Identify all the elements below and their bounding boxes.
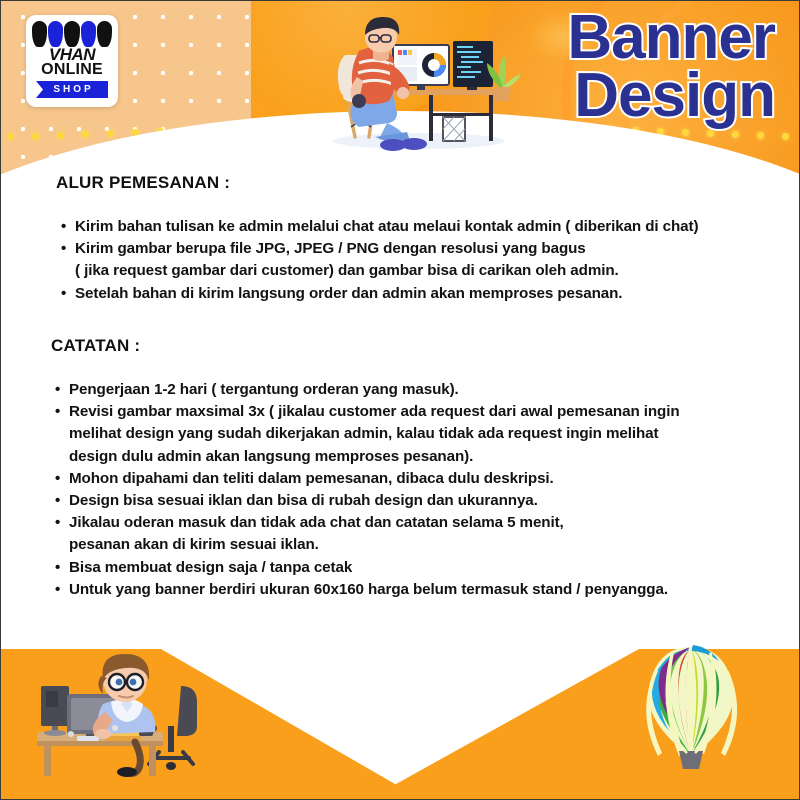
list-item: Setelah bahan di kirim langsung order da…: [59, 283, 769, 305]
lamp-dot: [782, 133, 789, 140]
boy-at-computer-illustration: [31, 646, 261, 781]
lamp-dot: [707, 130, 714, 137]
list-item: Pengerjaan 1-2 hari ( tergantung orderan…: [53, 379, 773, 401]
list-item: Kirim bahan tulisan ke admin melalui cha…: [59, 216, 769, 238]
section-heading-alur: ALUR PEMESANAN :: [56, 173, 230, 193]
lamp-dot: [82, 131, 89, 138]
list-item: Mohon dipahami dan teliti dalam pemesana…: [53, 468, 773, 490]
list-item: Untuk yang banner berdiri ukuran 60x160 …: [53, 579, 773, 601]
list-item: Jikalau oderan masuk dan tidak ada chat …: [53, 512, 773, 556]
list-item: Design bisa sesuai iklan dan bisa di rub…: [53, 490, 773, 512]
coreldraw-hot-air-balloon-logo: [631, 643, 751, 775]
title-line-2: Design: [345, 67, 775, 125]
list-item: Bisa membuat design saja / tanpa cetak: [53, 557, 773, 579]
content-body: ALUR PEMESANAN : Kirim bahan tulisan ke …: [1, 161, 800, 661]
awning-icon: [32, 21, 112, 47]
order-flow-list: Kirim bahan tulisan ke admin melalui cha…: [59, 216, 769, 305]
brand-name-mid: ONLINE: [26, 62, 118, 78]
promo-poster: VHAN ONLINE SHOP: [0, 0, 800, 800]
brand-ribbon: SHOP: [36, 81, 108, 98]
section-heading-catatan: CATATAN :: [51, 336, 140, 356]
notes-list: Pengerjaan 1-2 hari ( tergantung orderan…: [53, 379, 773, 601]
lamp-dot: [107, 130, 114, 137]
brand-logo: VHAN ONLINE SHOP: [26, 15, 118, 107]
list-item: Kirim gambar berupa file JPG, JPEG / PNG…: [59, 238, 769, 282]
lamp-dot: [732, 131, 739, 138]
title-line-1: Banner: [345, 9, 775, 67]
lamp-dot: [32, 133, 39, 140]
brand-ribbon-label: SHOP: [50, 84, 93, 95]
lamp-dot: [757, 132, 764, 139]
list-item: Revisi gambar maxsimal 3x ( jikalau cust…: [53, 401, 773, 468]
page-title: Banner Design: [345, 9, 775, 126]
lamp-dot: [57, 132, 64, 139]
